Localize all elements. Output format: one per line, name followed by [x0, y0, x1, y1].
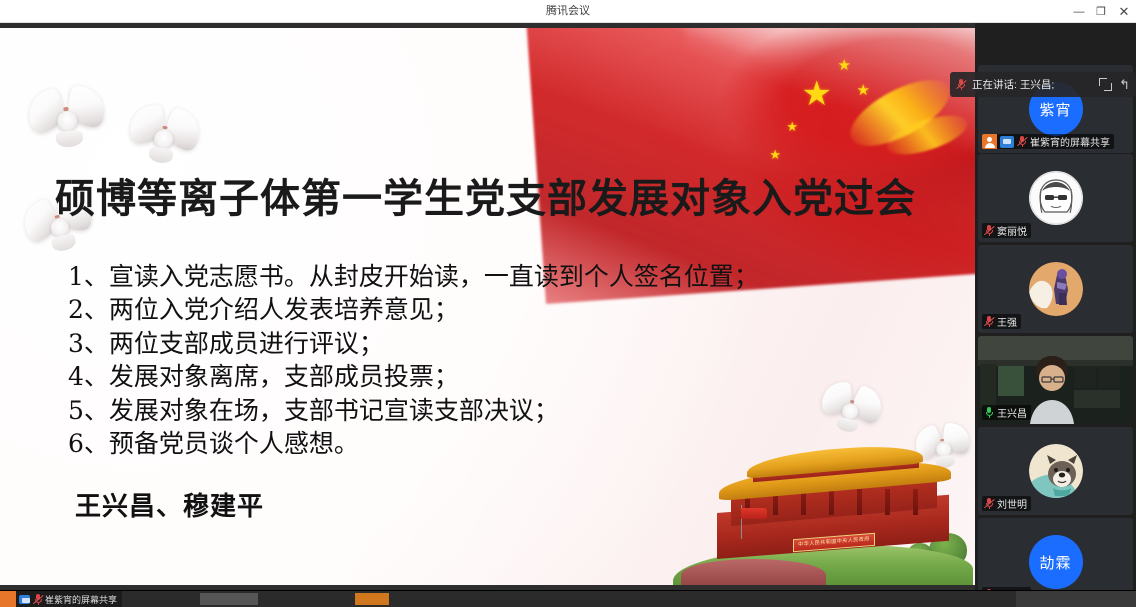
screen-share-tag: 崔紫宵的屏幕共享 [982, 134, 1114, 149]
flag-star-3: ★ [786, 120, 798, 133]
mic-muted-icon [1017, 136, 1027, 147]
taskbar-label: 崔紫宵的屏幕共享 [45, 593, 117, 606]
participant-rail[interactable]: 紫宵 崔紫宵的屏幕共享 [975, 23, 1136, 606]
meeting-stage: ★ ★ ★ ★ ★ [0, 23, 1136, 606]
user-icon [0, 591, 16, 607]
participant-name: 崔紫宵的屏幕共享 [1030, 134, 1110, 149]
shared-screen-view[interactable]: ★ ★ ★ ★ ★ [0, 28, 975, 585]
avatar: 劼霖 [1029, 535, 1083, 589]
participant-name: 刘世明 [997, 496, 1027, 511]
list-item: 1、宣读入党志愿书。从封皮开始读，一直读到个人签名位置； [68, 260, 948, 293]
flag-star-1: ★ [838, 58, 851, 73]
participant-tile-video[interactable]: 王兴昌 [978, 336, 1133, 424]
participant-tile[interactable]: 刘世明 [978, 427, 1133, 515]
participant-tile[interactable]: 王强 [978, 245, 1133, 333]
app-title: 腾讯会议 [0, 0, 1136, 23]
speaking-text: 正在讲话: 王兴昌; [972, 77, 1054, 92]
participant-name: 窦丽悦 [997, 223, 1027, 238]
mic-muted-icon [956, 79, 966, 90]
maximize-button[interactable]: ❐ [1090, 0, 1112, 23]
expand-icon[interactable] [1099, 78, 1112, 91]
flag-star-4: ★ [769, 148, 781, 161]
mic-muted-icon [984, 498, 994, 509]
list-item: 3、两位支部成员进行评议； [68, 327, 948, 360]
participant-name-bar: 王强 [982, 314, 1021, 329]
mic-unmuted-icon [984, 407, 994, 418]
windows-taskbar[interactable]: 崔紫宵的屏幕共享 [0, 590, 1136, 606]
participant-name-bar: 王兴昌 [982, 405, 1031, 420]
character-avatar-icon [1029, 262, 1083, 316]
banner-actions: ↰ [1099, 78, 1130, 91]
user-icon [982, 134, 997, 149]
avatar [1029, 171, 1083, 225]
close-button[interactable]: ✕ [1112, 0, 1136, 23]
flag-star-large: ★ [802, 77, 832, 111]
taskbar-tray[interactable] [1016, 591, 1136, 607]
list-item: 4、发展对象离席，支部成员投票； [68, 360, 948, 393]
taskbar-active-window[interactable]: 崔紫宵的屏幕共享 [0, 591, 122, 607]
taskbar-window-chip[interactable] [355, 593, 389, 605]
participant-name-bar: 刘世明 [982, 496, 1031, 511]
window-title-bar: 腾讯会议 — ❐ ✕ [0, 0, 1136, 23]
slide-presenters: 王兴昌、穆建平 [75, 486, 264, 523]
list-item: 6、预备党员谈个人感想。 [68, 427, 948, 460]
participant-name: 王强 [997, 314, 1017, 329]
list-item: 5、发展对象在场，支部书记宣读支部决议； [68, 394, 948, 427]
screen-share-icon [1000, 136, 1014, 148]
anime-avatar-icon [1029, 171, 1083, 225]
avatar [1029, 444, 1083, 498]
minimize-button[interactable]: — [1068, 0, 1090, 23]
mic-muted-icon [984, 225, 994, 236]
taskbar-window-chip[interactable] [200, 593, 258, 605]
participant-name: 王兴昌 [997, 405, 1027, 420]
screen-share-icon [19, 595, 30, 604]
mic-muted-icon [984, 316, 994, 327]
avatar [1029, 262, 1083, 316]
slide-agenda-list: 1、宣读入党志愿书。从封皮开始读，一直读到个人签名位置； 2、两位入党介绍人发表… [68, 260, 948, 460]
list-item: 2、两位入党介绍人发表培养意见； [68, 293, 948, 326]
participant-name-bar: 窦丽悦 [982, 223, 1031, 238]
mic-muted-icon [33, 594, 42, 604]
flag-star-2: ★ [857, 83, 870, 98]
collapse-arrow-icon[interactable]: ↰ [1119, 78, 1130, 91]
dog-avatar-icon [1029, 444, 1083, 498]
window-controls: — ❐ ✕ [1068, 0, 1136, 23]
slide-title: 硕博等离子体第一学生党支部发展对象入党过会 [55, 166, 945, 224]
participant-tile[interactable]: 窦丽悦 [978, 154, 1133, 242]
speaking-indicator-banner[interactable]: 正在讲话: 王兴昌; ↰ [950, 72, 1136, 97]
